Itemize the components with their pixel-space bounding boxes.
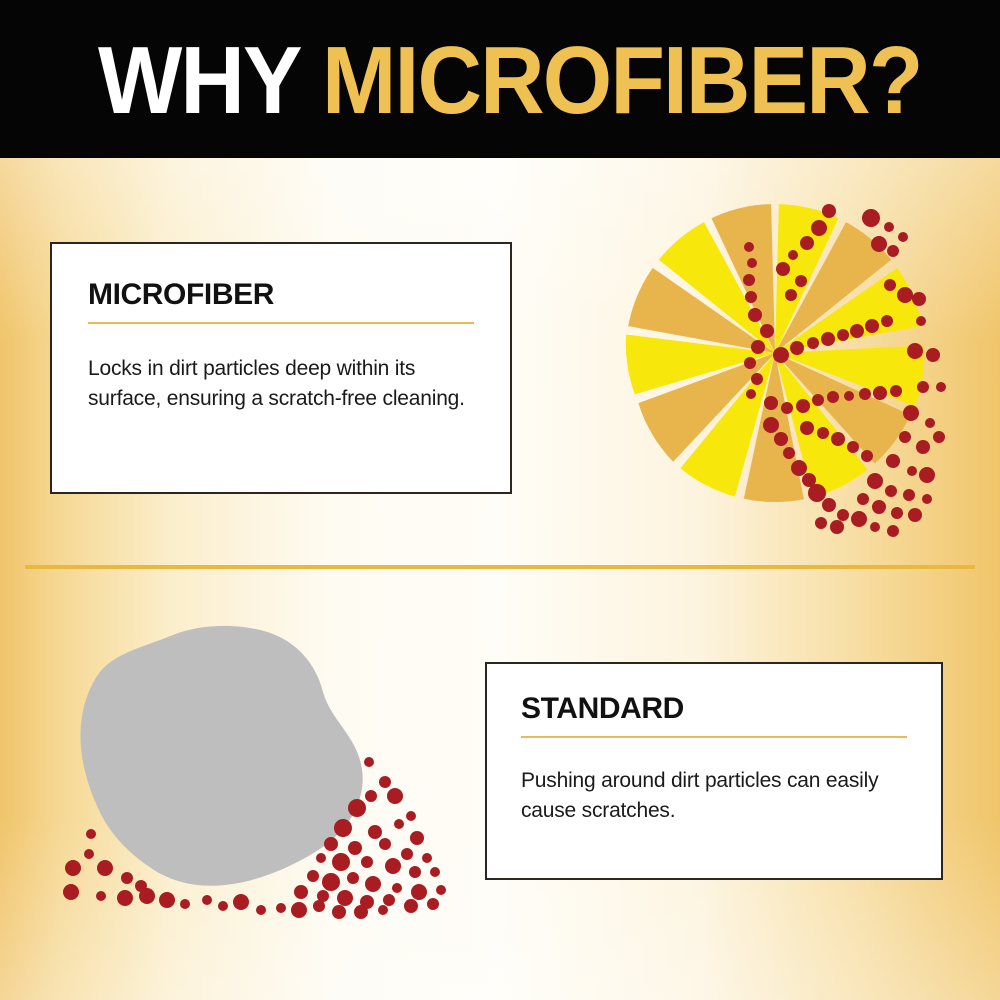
header-band: WHY MICROFIBER? <box>0 0 1000 158</box>
card-standard-body: Pushing around dirt particles can easily… <box>521 766 907 826</box>
card-microfiber-body: Locks in dirt particles deep within its … <box>88 354 474 414</box>
page-title-gold-part: MICROFIBER? <box>322 27 921 134</box>
microfiber-star-svg <box>575 175 980 540</box>
infographic-root: WHY MICROFIBER? MICROFIBER Locks in dirt… <box>0 0 1000 1000</box>
standard-cloth-svg <box>55 600 485 940</box>
microfiber-star-graphic <box>575 175 980 540</box>
card-standard-rule <box>521 736 907 738</box>
card-microfiber-inner: MICROFIBER Locks in dirt particles deep … <box>52 244 510 414</box>
card-microfiber-heading: MICROFIBER <box>88 278 474 312</box>
section-divider <box>25 565 975 569</box>
standard-cloth-graphic <box>55 600 485 940</box>
cloth-blob <box>81 626 363 886</box>
page-title: WHY MICROFIBER? <box>98 16 922 146</box>
page-title-white-part: WHY <box>98 27 322 134</box>
card-microfiber: MICROFIBER Locks in dirt particles deep … <box>50 242 512 494</box>
card-standard-inner: STANDARD Pushing around dirt particles c… <box>487 664 941 826</box>
card-standard-heading: STANDARD <box>521 692 907 726</box>
card-standard: STANDARD Pushing around dirt particles c… <box>485 662 943 880</box>
card-microfiber-rule <box>88 322 474 324</box>
